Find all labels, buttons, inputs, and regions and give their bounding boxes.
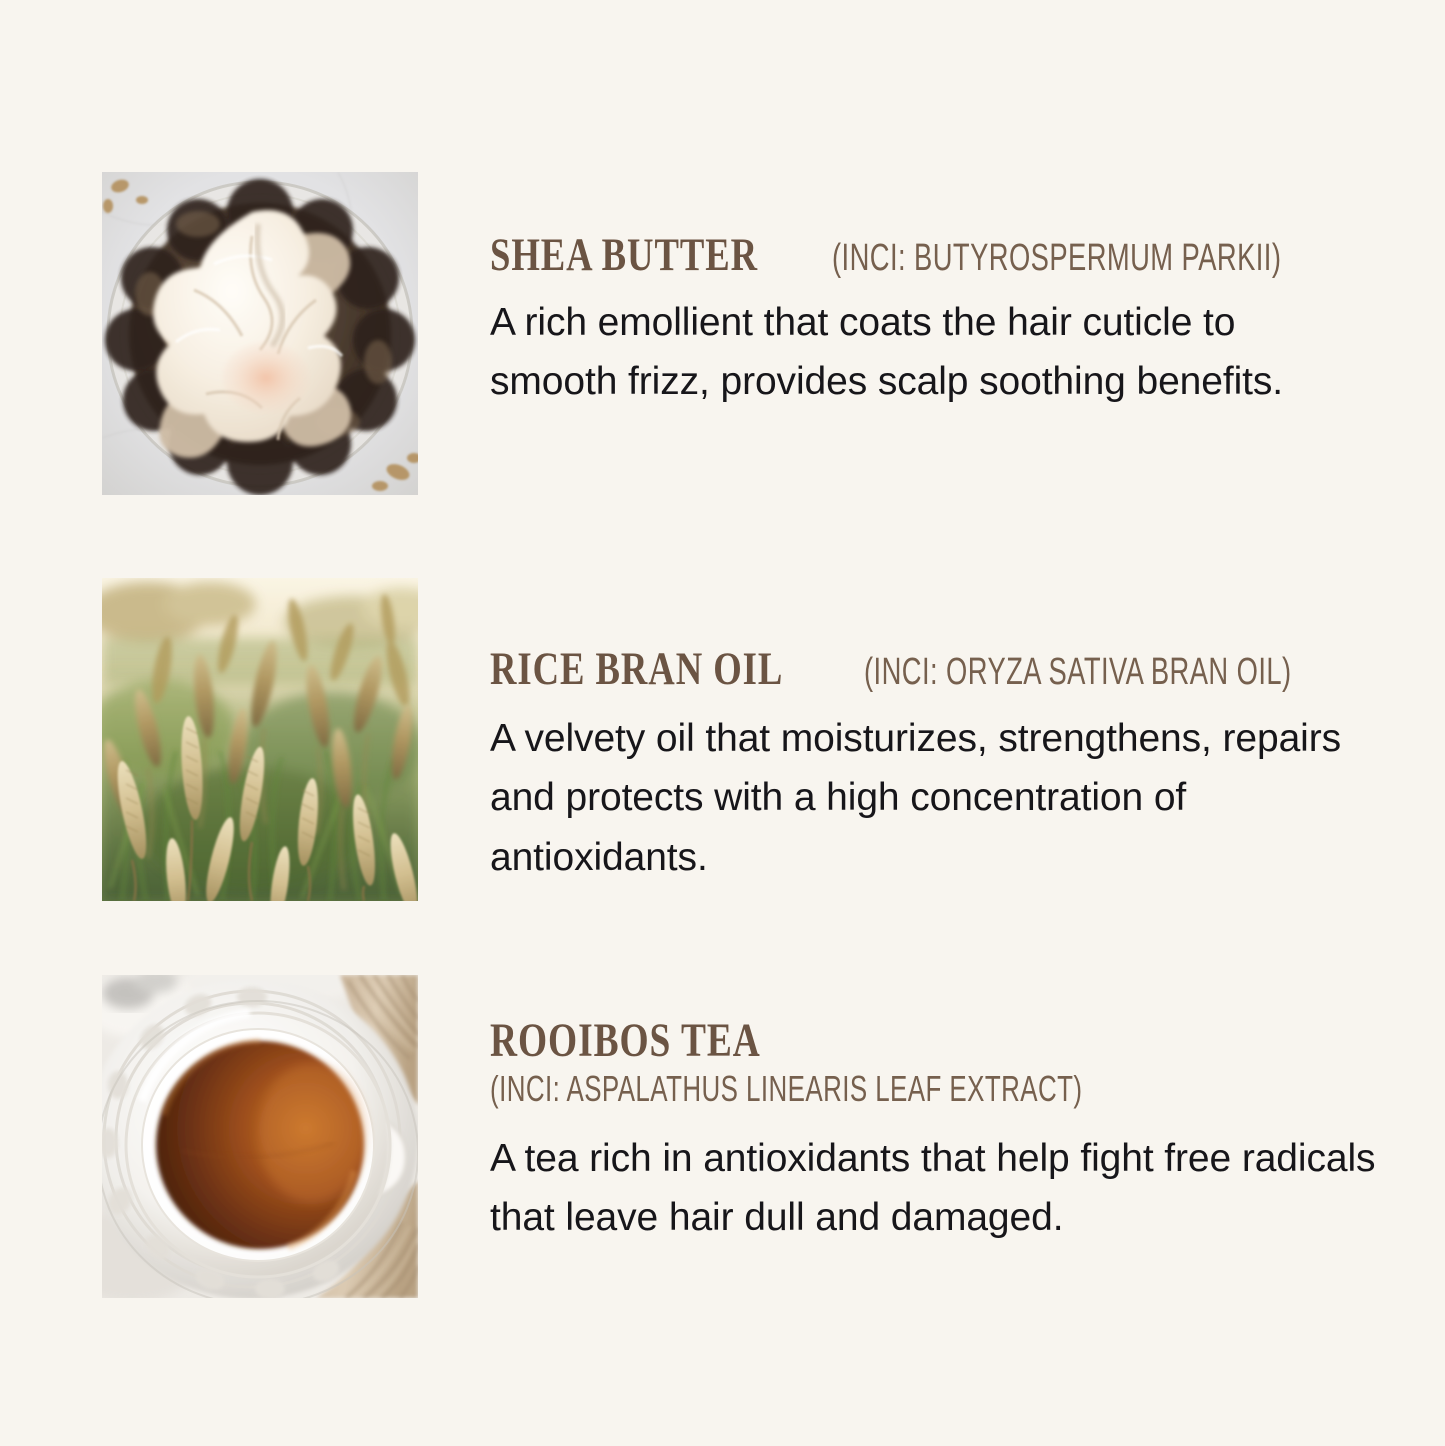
rooibos-tea-photo (102, 975, 418, 1298)
ingredient-heading: SHEA BUTTER(INCI: BUTYROSPERMUM PARKII) (490, 232, 1445, 279)
ingredient-text-column: SHEA BUTTER(INCI: BUTYROSPERMUM PARKII) … (418, 172, 1445, 412)
ingredient-row: SHEA BUTTER(INCI: BUTYROSPERMUM PARKII) … (102, 172, 1392, 495)
ingredient-description: A tea rich in antioxidants that help fig… (490, 1129, 1390, 1248)
ingredient-name: RICE BRAN OIL (490, 646, 783, 693)
ingredient-description: A velvety oil that moisturizes, strength… (490, 709, 1360, 887)
shea-butter-photo (102, 172, 418, 495)
ingredient-inci: (INCI: ASPALATHUS LINEARIS LEAF EXTRACT) (490, 1071, 1082, 1107)
ingredient-inci: (INCI: ORYZA SATIVA BRAN OIL) (864, 653, 1292, 691)
ingredient-row: ROOIBOS TEA (INCI: ASPALATHUS LINEARIS L… (102, 975, 1392, 1298)
ingredient-inci-line: (INCI: ASPALATHUS LINEARIS LEAF EXTRACT) (490, 1071, 1392, 1107)
ingredient-text-column: RICE BRAN OIL(INCI: ORYZA SATIVA BRAN OI… (418, 578, 1445, 887)
ingredient-inci: (INCI: BUTYROSPERMUM PARKII) (832, 239, 1281, 277)
ingredient-heading: RICE BRAN OIL(INCI: ORYZA SATIVA BRAN OI… (490, 646, 1445, 693)
ingredient-row: RICE BRAN OIL(INCI: ORYZA SATIVA BRAN OI… (102, 578, 1392, 901)
ingredient-benefits-panel: SHEA BUTTER(INCI: BUTYROSPERMUM PARKII) … (0, 0, 1445, 1446)
shea-butter-illustration (102, 172, 418, 495)
tea-cup-illustration (102, 975, 418, 1298)
rice-field-illustration (102, 578, 418, 901)
ingredient-description: A rich emollient that coats the hair cut… (490, 293, 1360, 412)
ingredient-name: SHEA BUTTER (490, 232, 758, 279)
rice-bran-field-photo (102, 578, 418, 901)
ingredient-name: ROOIBOS TEA (490, 1017, 761, 1065)
ingredient-heading: ROOIBOS TEA (490, 1017, 1392, 1065)
ingredient-text-column: ROOIBOS TEA (INCI: ASPALATHUS LINEARIS L… (418, 975, 1392, 1248)
